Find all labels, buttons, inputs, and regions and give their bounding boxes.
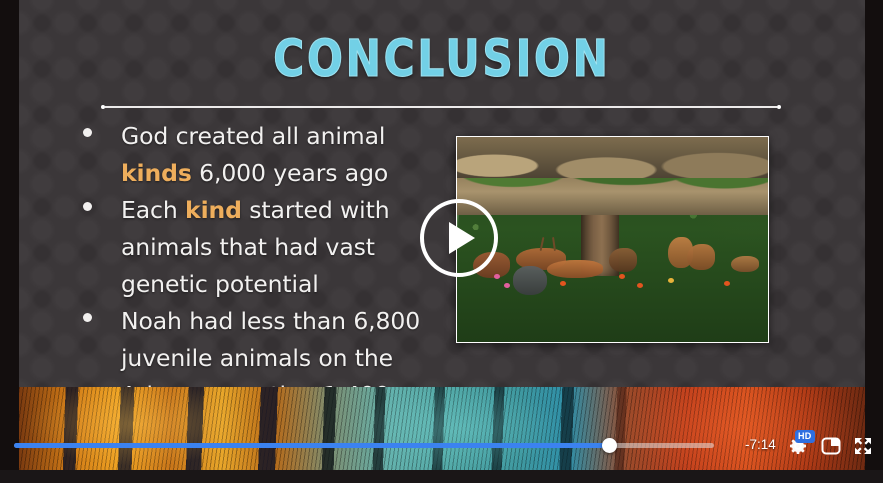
settings-button[interactable]: HD: [786, 434, 810, 458]
title-divider: [101, 105, 781, 109]
video-player[interactable]: CONCLUSION God created all animal kinds …: [0, 0, 883, 483]
bullet-item: Each kind started with animals that had …: [79, 192, 439, 303]
divider-cap-right: [777, 105, 781, 109]
miniplayer-icon: [819, 434, 843, 458]
letterbox-left: [0, 0, 19, 483]
photo-flower: [560, 281, 566, 286]
bullet-text-segment: God created all animal: [121, 122, 385, 150]
player-bottom-bar: [0, 470, 883, 483]
video-frame[interactable]: CONCLUSION God created all animal kinds …: [19, 0, 865, 470]
bullet-text: Each kind started with animals that had …: [121, 192, 439, 303]
bullet-highlight-word: kind: [185, 196, 242, 224]
photo-flower: [637, 283, 643, 288]
bullet-text-segment: 6,000 years ago: [192, 159, 388, 187]
photo-animal: [513, 266, 547, 295]
bullet-dot-icon: [83, 128, 92, 137]
bullet-dot-icon: [83, 313, 92, 322]
bullet-item: God created all animal kinds 6,000 years…: [79, 118, 439, 192]
photo-flower: [724, 281, 730, 286]
photo-flower: [504, 283, 510, 288]
photo-animal: [731, 256, 759, 272]
time-remaining-label: -7:14: [745, 437, 776, 453]
divider-bar: [105, 106, 777, 108]
photo-animal: [547, 260, 603, 278]
fullscreen-arrows-icon: [851, 434, 875, 458]
fullscreen-button[interactable]: [851, 434, 875, 458]
photo-animal: [687, 244, 715, 271]
miniplayer-button[interactable]: [819, 434, 843, 458]
bullet-text: God created all animal kinds 6,000 years…: [121, 118, 439, 192]
letterbox-right: [865, 0, 883, 483]
bullet-dot-icon: [83, 202, 92, 211]
player-controls: -7:14 HD: [0, 432, 883, 470]
progress-bar[interactable]: [14, 440, 714, 450]
photo-rock-ledge: [457, 137, 768, 178]
hd-quality-badge: HD: [795, 430, 815, 443]
bullet-highlight-word: kinds: [121, 159, 192, 187]
progress-handle[interactable]: [602, 438, 617, 453]
photo-animal: [609, 248, 637, 273]
slide-photo: [456, 136, 769, 343]
slide-title: CONCLUSION: [53, 34, 831, 86]
progress-fill: [14, 443, 609, 448]
play-button[interactable]: [420, 199, 498, 277]
play-triangle-icon: [449, 222, 475, 254]
bullet-text-segment: Each: [121, 196, 185, 224]
